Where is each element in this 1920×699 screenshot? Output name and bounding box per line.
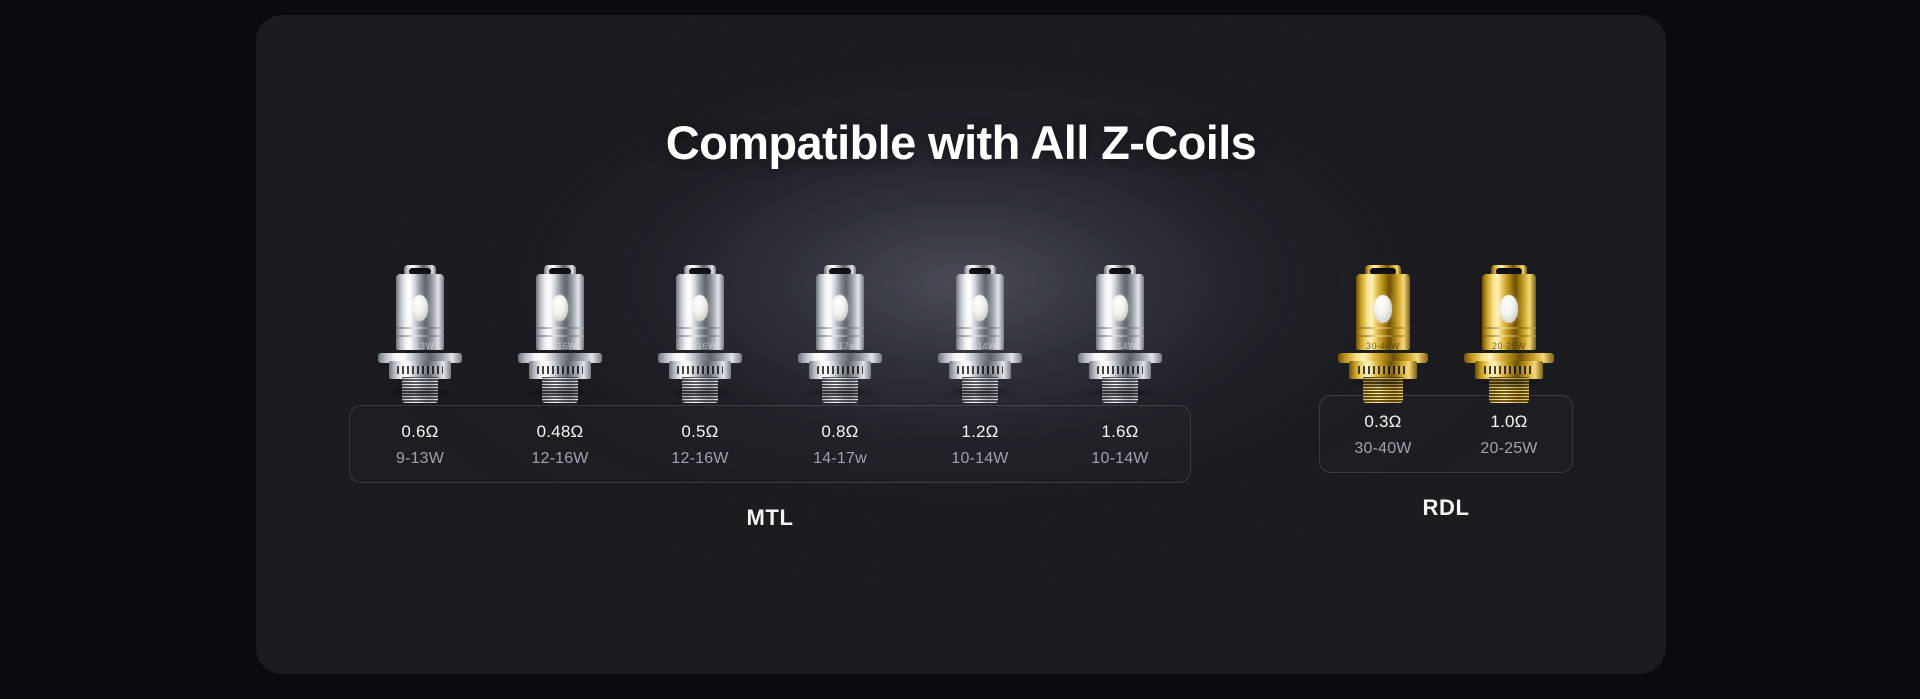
coil-ring-upper [1096,327,1144,329]
coil-shadow [523,387,597,398]
coil-resistance: 0.3Ω [1364,412,1401,432]
coil-ring-upper [816,327,864,329]
spec-box-rdl: 0.3Ω30-40W1.0Ω20-25W [1319,395,1573,473]
group-label-rdl: RDL [1422,495,1469,521]
coil-group-rdl: 30-40W20-25W0.3Ω30-40W1.0Ω20-25WRDL [1319,265,1573,521]
coil-shadow [663,387,737,398]
coil-spec: 0.8Ω14-17w [770,422,910,468]
coil-resistance: 1.6Ω [1101,422,1138,442]
coil-silver-icon: 12-16W [653,265,747,393]
coil-groups: 9-13W12-16W12-16W14-17w10-14W10-14W0.6Ω9… [256,265,1666,531]
coil-spec: 1.6Ω10-14W [1050,422,1190,468]
coil-juice-port [1112,295,1128,321]
coil-shadow [1346,377,1420,388]
coil-ring-upper [1482,327,1536,329]
coil-ring-lower [1482,335,1536,337]
product-card: Compatible with All Z-Coils 9-13W12-16W1… [256,15,1666,674]
coil-silver-icon: 10-14W [1073,265,1167,393]
coil-resistance: 0.5Ω [681,422,718,442]
coil-item[interactable]: 9-13W [350,265,490,395]
coil-ring-lower [1096,335,1144,337]
coil-ring-lower [1356,335,1410,337]
coil-spec: 0.5Ω12-16W [630,422,770,468]
coil-wattage: 9-13W [396,450,444,468]
coil-resistance: 0.6Ω [401,422,438,442]
coil-gold-icon: 20-25W [1457,265,1561,383]
coil-juice-port [692,295,708,321]
coil-ring-upper [676,327,724,329]
coil-silver-icon: 12-16W [513,265,607,393]
coil-spec: 1.2Ω10-14W [910,422,1050,468]
coil-wattage: 30-40W [1354,440,1411,458]
coil-item[interactable]: 10-14W [1050,265,1190,395]
coil-resistance: 0.48Ω [537,422,584,442]
coil-ring-lower [536,335,584,337]
group-label-mtl: MTL [746,505,793,531]
coil-spec: 1.0Ω20-25W [1446,412,1572,458]
coil-ring-lower [956,335,1004,337]
coil-juice-port [832,295,848,321]
coil-wattage: 10-14W [1091,450,1148,468]
coil-wattage: 12-16W [671,450,728,468]
coil-item[interactable]: 20-25W [1446,265,1572,385]
coil-wattage: 20-25W [1480,440,1537,458]
coil-ring-upper [956,327,1004,329]
coil-ring-upper [1356,327,1410,329]
coil-item[interactable]: 30-40W [1320,265,1446,385]
coil-item[interactable]: 12-16W [630,265,770,395]
coil-gold-icon: 30-40W [1331,265,1435,383]
coil-wattage: 12-16W [531,450,588,468]
coil-ring-lower [396,335,444,337]
coil-silver-icon: 10-14W [933,265,1027,393]
spec-box-mtl: 0.6Ω9-13W0.48Ω12-16W0.5Ω12-16W0.8Ω14-17w… [349,405,1191,483]
coil-resistance: 0.8Ω [821,422,858,442]
coil-spec: 0.6Ω9-13W [350,422,490,468]
coil-juice-port [412,295,428,321]
coil-item[interactable]: 10-14W [910,265,1050,395]
coil-wattage: 14-17w [813,450,867,468]
coil-printed-wattage: 10-14W [1103,341,1137,351]
coil-ring-lower [676,335,724,337]
coil-item[interactable]: 14-17w [770,265,910,395]
coil-shadow [943,387,1017,398]
coil-printed-wattage: 30-40W [1366,341,1400,351]
coil-silver-icon: 14-17w [793,265,887,393]
coil-shadow [383,387,457,398]
coil-shadow [1472,377,1546,388]
coil-printed-wattage: 12-16W [543,341,577,351]
coil-image-row: 9-13W12-16W12-16W14-17w10-14W10-14W [350,265,1190,395]
coil-spec: 0.3Ω30-40W [1320,412,1446,458]
coil-juice-port [972,295,988,321]
coil-printed-wattage: 9-13W [406,341,435,351]
coil-shadow [803,387,877,398]
coil-printed-wattage: 20-25W [1492,341,1526,351]
coil-shadow [1083,387,1157,398]
coil-ring-upper [536,327,584,329]
coil-ring-lower [816,335,864,337]
coil-juice-port [552,295,568,321]
coil-wattage: 10-14W [951,450,1008,468]
coil-printed-wattage: 12-16W [683,341,717,351]
coil-juice-port [1500,295,1518,323]
coil-image-row: 30-40W20-25W [1320,265,1572,385]
coil-item[interactable]: 12-16W [490,265,630,395]
coil-resistance: 1.2Ω [961,422,998,442]
coil-ring-upper [396,327,444,329]
coil-printed-wattage: 10-14W [963,341,997,351]
coil-silver-icon: 9-13W [373,265,467,393]
coil-resistance: 1.0Ω [1490,412,1527,432]
page-title: Compatible with All Z-Coils [256,115,1666,170]
coil-juice-port [1374,295,1392,323]
coil-printed-wattage: 14-17w [824,341,856,351]
coil-spec: 0.48Ω12-16W [490,422,630,468]
coil-group-mtl: 9-13W12-16W12-16W14-17w10-14W10-14W0.6Ω9… [349,265,1191,531]
